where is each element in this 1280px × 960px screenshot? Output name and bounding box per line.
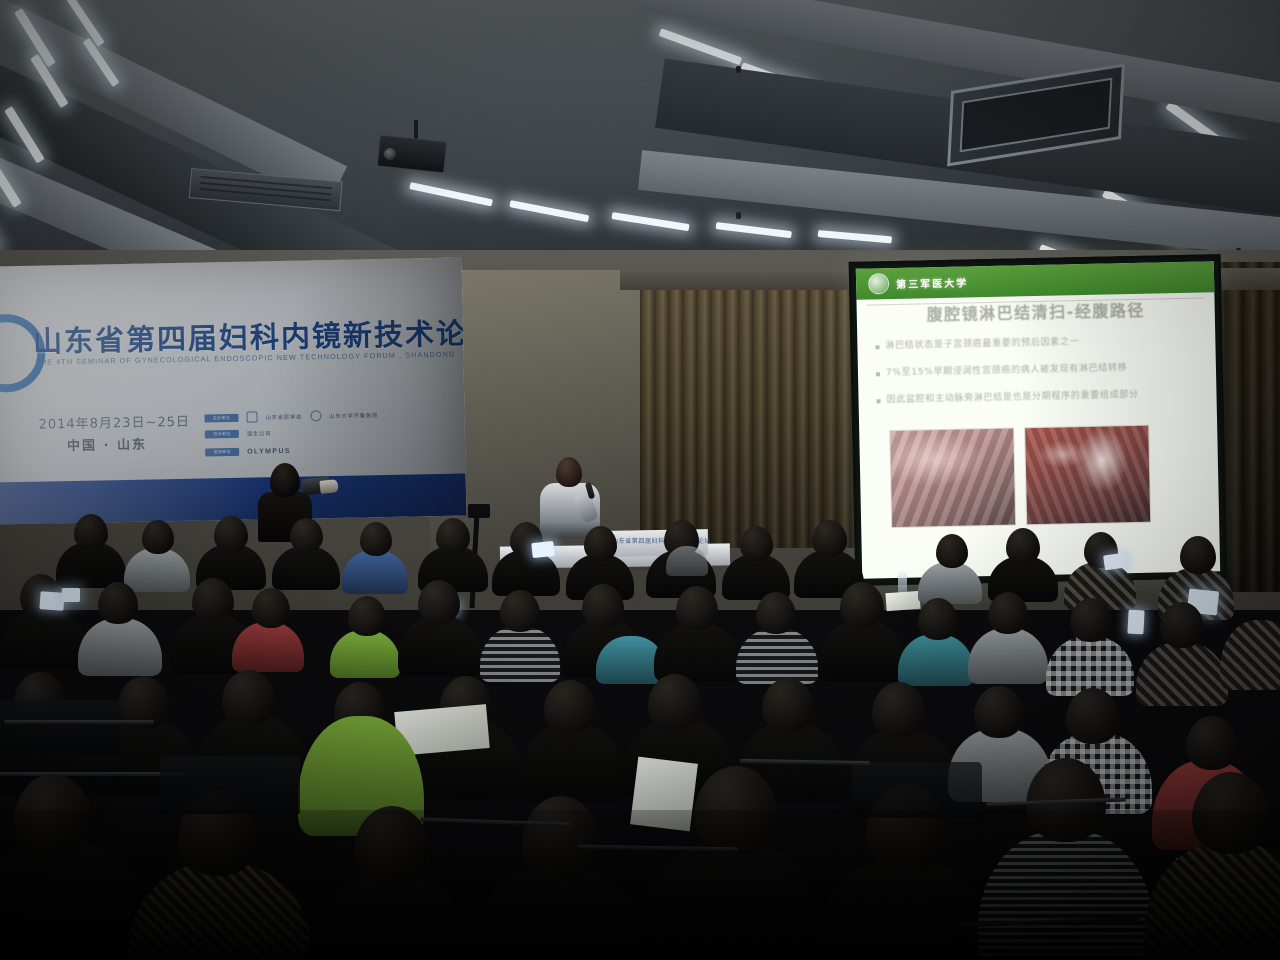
attendee-head bbox=[584, 526, 617, 561]
seat-back bbox=[160, 756, 300, 814]
sponsor-name: OLYMPUS bbox=[247, 447, 291, 455]
sponsor-name: 山东大学齐鲁医院 bbox=[329, 411, 378, 420]
attendee-head bbox=[918, 598, 958, 640]
attendee-head bbox=[522, 796, 600, 880]
seat-back bbox=[0, 700, 120, 754]
attendee-body bbox=[128, 862, 312, 960]
attendee-head bbox=[500, 590, 540, 632]
attendee-body bbox=[898, 634, 974, 686]
sponsor-row: 主办单位 山东省医学会 山东大学齐鲁医院 bbox=[204, 409, 378, 423]
attendee-tablet-screen bbox=[62, 588, 80, 602]
slide-bullet-text: 淋巴结状态是子宫颈癌最重要的预后因素之一 bbox=[885, 336, 1079, 352]
attendee-head bbox=[840, 582, 884, 628]
attendee-head bbox=[1006, 528, 1040, 564]
attendee-head bbox=[418, 580, 460, 624]
attendee-head bbox=[360, 522, 392, 556]
slide-bullet-text: 因此盆腔和主动脉旁淋巴结是也是分期程序的重要组成部分 bbox=[886, 389, 1138, 406]
banner-date: 2014年8月23日~25日 bbox=[38, 411, 190, 433]
fluorescent-light-strip bbox=[0, 198, 1, 252]
attendee-body bbox=[736, 628, 818, 684]
bullet-dot-icon bbox=[875, 345, 879, 349]
sponsor-mark-icon bbox=[246, 411, 257, 422]
slide-bullet: 7%至15%早期浸润性宫颈癌的病人被发现有淋巴结转移 bbox=[876, 361, 1202, 380]
attendee-head bbox=[762, 678, 814, 732]
attendee-body bbox=[398, 616, 482, 676]
sponsor-name: 山东省医学会 bbox=[265, 412, 302, 421]
attendee-body bbox=[0, 610, 88, 670]
attendee-head bbox=[974, 686, 1024, 738]
seat-back bbox=[852, 762, 982, 818]
sponsor-name: 强生公司 bbox=[247, 429, 272, 437]
sponsor-row: 支持单位 OLYMPUS bbox=[205, 447, 291, 457]
attendee-phone-screen bbox=[39, 591, 64, 611]
attendee-head bbox=[1160, 602, 1204, 648]
attendee-body bbox=[1046, 636, 1134, 696]
conference-hall-photo: 山东省第四届妇科内镜新技术论坛 THE 4TH SEMINAR OF GYNEC… bbox=[0, 0, 1280, 960]
attendee-head bbox=[214, 516, 248, 552]
banner-location: 中国 · 山东 bbox=[67, 434, 147, 455]
sprinkler-head bbox=[736, 66, 741, 73]
attendee-head bbox=[936, 534, 968, 568]
attendee-head bbox=[222, 670, 276, 726]
attendee-body bbox=[1220, 620, 1280, 690]
attendee-phone-screen bbox=[1127, 610, 1144, 635]
attendee-head bbox=[290, 518, 323, 552]
attendee-body bbox=[306, 874, 476, 960]
attendee-body bbox=[480, 626, 560, 682]
attendee-phone-screen bbox=[1103, 553, 1127, 571]
university-logo-icon bbox=[868, 273, 889, 294]
attendee-head bbox=[252, 588, 290, 628]
slide-bullet: 因此盆腔和主动脉旁淋巴结是也是分期程序的重要组成部分 bbox=[876, 388, 1202, 407]
attendee-head bbox=[582, 584, 624, 628]
attendee-body bbox=[330, 630, 400, 678]
attendee-head bbox=[142, 520, 174, 554]
attendee-head bbox=[98, 582, 138, 624]
attendee-head bbox=[544, 680, 596, 734]
attendee-head bbox=[1066, 688, 1120, 744]
attendee-head bbox=[74, 514, 108, 550]
slide-bullet-text: 7%至15%早期浸润性宫颈癌的病人被发现有淋巴结转移 bbox=[886, 362, 1128, 379]
attendee-head bbox=[740, 526, 773, 561]
slide-bullet: 淋巴结状态是子宫颈癌最重要的预后因素之一 bbox=[875, 334, 1201, 353]
slide-bullet-list: 淋巴结状态是子宫颈癌最重要的预后因素之一 7%至15%早期浸润性宫颈癌的病人被发… bbox=[875, 334, 1203, 422]
attendee-body bbox=[918, 562, 982, 604]
sponsor-tag: 协办单位 bbox=[205, 430, 239, 439]
attendee-head bbox=[872, 682, 926, 738]
slide-header: 第三军医大学 bbox=[856, 261, 1215, 299]
sponsor-mark-icon bbox=[310, 410, 321, 421]
attendee-body bbox=[818, 620, 906, 682]
attendee-body bbox=[666, 546, 708, 576]
attendee-head bbox=[1192, 772, 1270, 854]
sprinkler-head bbox=[736, 212, 741, 219]
attendee-head bbox=[1070, 598, 1112, 642]
bullet-dot-icon bbox=[876, 372, 880, 376]
fluorescent-light-strip bbox=[509, 200, 589, 222]
handout-paper bbox=[630, 757, 698, 832]
attendee-body bbox=[968, 628, 1048, 684]
attendee-head bbox=[648, 674, 702, 730]
attendee-head bbox=[1186, 716, 1238, 770]
attendee-body bbox=[342, 550, 408, 594]
attendee-head bbox=[436, 518, 470, 554]
fluorescent-light-strip bbox=[409, 182, 493, 206]
slide-title: 腹腔镜淋巴结清扫-经腹路径 bbox=[857, 295, 1215, 326]
projector-lens-icon bbox=[384, 148, 396, 160]
bullet-dot-icon bbox=[877, 399, 881, 403]
attendee-body bbox=[470, 866, 648, 960]
sponsor-row: 协办单位 强生公司 bbox=[205, 429, 272, 438]
fluorescent-light-strip bbox=[611, 212, 689, 231]
attendee-body bbox=[814, 858, 994, 960]
attendee-head bbox=[348, 596, 386, 636]
seat-rail bbox=[4, 720, 154, 724]
attendee-head bbox=[1180, 536, 1216, 574]
attendee-head bbox=[812, 520, 847, 557]
attendee-body bbox=[124, 548, 190, 592]
seat-rail bbox=[0, 772, 184, 776]
attendee-body bbox=[232, 622, 304, 672]
attendee-body bbox=[978, 830, 1154, 960]
attendee-phone-screen bbox=[531, 541, 554, 558]
attendee-body bbox=[1136, 642, 1228, 706]
attendee-body bbox=[272, 546, 340, 590]
attendee-body bbox=[0, 840, 150, 960]
attendee-head bbox=[988, 592, 1028, 634]
sponsor-tag: 主办单位 bbox=[204, 413, 238, 422]
fluorescent-light-strip bbox=[818, 230, 892, 243]
attendee-body bbox=[518, 724, 626, 802]
attendee-body bbox=[1144, 842, 1280, 960]
attendee-body bbox=[654, 622, 740, 682]
sponsor-tag: 支持单位 bbox=[205, 448, 239, 457]
attendee-head bbox=[676, 586, 718, 630]
audience-seating-area bbox=[0, 470, 1280, 960]
attendee-body bbox=[78, 618, 162, 676]
attendee-body bbox=[638, 840, 824, 960]
attendee-head bbox=[756, 592, 796, 634]
projector-mount-arm bbox=[414, 120, 418, 140]
attendee-head bbox=[192, 578, 234, 622]
slide-organization: 第三军医大学 bbox=[896, 274, 968, 291]
fluorescent-light-strip bbox=[716, 222, 792, 238]
